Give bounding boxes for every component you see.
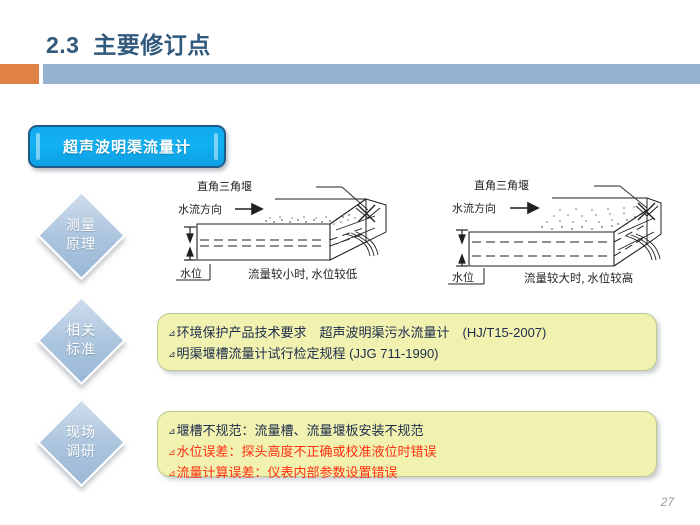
section-diamond-related-standards[interactable]: 相关 标准 — [29, 296, 133, 384]
section-diamond-field-survey[interactable]: 现场 调研 — [29, 398, 133, 486]
list-item-text: 环境保护产品技术要求 超声波明渠污水流量计 (HJ/T15-2007) — [177, 323, 547, 342]
level-label-text: 水位 — [452, 270, 474, 284]
weir-label-text: 直角三角堰 — [474, 178, 529, 192]
list-item: ⊿ 明渠堰槽流量计试行检定规程 (JJG 711-1990) — [168, 344, 644, 365]
list-item: ⊿ 流量计算误差：仪表内部参数设置错误 — [168, 463, 644, 484]
related-standards-box: ⊿ 环境保护产品技术要求 超声波明渠污水流量计 (HJ/T15-2007) ⊿ … — [157, 313, 657, 371]
flow-label-text: 水流方向 — [452, 201, 496, 215]
weir-diagrams: 直角三角堰 水流方向 水位 流量较小时, 水位较低 — [170, 172, 690, 290]
list-item-text: 水位误差：探头高度不正确或校准液位时错误 — [177, 442, 437, 461]
section-diamond-measurement-principle[interactable]: 测量 原理 — [29, 191, 133, 279]
field-survey-box: ⊿ 堰槽不规范：流量槽、流量堰板安装不规范 ⊿ 水位误差：探头高度不正确或校准液… — [157, 411, 657, 477]
triangle-bullet-icon: ⊿ — [168, 345, 176, 364]
list-item: ⊿ 堰槽不规范：流量槽、流量堰板安装不规范 — [168, 421, 644, 442]
diamond-shape — [36, 295, 125, 384]
triangle-bullet-icon: ⊿ — [168, 464, 176, 483]
title-accent-blue-bar — [43, 64, 700, 84]
figure-caption-text: 流量较小时, 水位较低 — [248, 267, 358, 281]
low-flow-weir-diagram: 直角三角堰 水流方向 水位 流量较小时, 水位较低 — [170, 172, 420, 290]
topic-header-pill[interactable]: 超声波明渠流量计 — [28, 125, 226, 168]
triangle-bullet-icon: ⊿ — [168, 443, 176, 462]
triangle-bullet-icon: ⊿ — [168, 422, 176, 441]
weir-label-text: 直角三角堰 — [197, 179, 252, 193]
list-item: ⊿ 水位误差：探头高度不正确或校准液位时错误 — [168, 442, 644, 463]
list-item-text: 堰槽不规范：流量槽、流量堰板安装不规范 — [177, 421, 424, 440]
list-item-text: 明渠堰槽流量计试行检定规程 (JJG 711-1990) — [177, 344, 439, 363]
page-title: 2.3 主要修订点 — [46, 26, 211, 60]
high-flow-weir-diagram: 直角三角堰 水流方向 水位 流量较大时, 水位较高 — [442, 172, 692, 290]
slide-canvas: 2.3 主要修订点 超声波明渠流量计 测量 原理 相关 标准 现场 调研 — [0, 0, 700, 525]
diamond-shape — [36, 397, 125, 486]
level-label-text: 水位 — [180, 266, 202, 280]
page-number: 27 — [661, 495, 674, 509]
title-accent-orange-block — [0, 64, 39, 84]
topic-header-label: 超声波明渠流量计 — [63, 136, 191, 157]
triangle-bullet-icon: ⊿ — [168, 324, 176, 343]
diamond-shape — [36, 190, 125, 279]
flow-label-text: 水流方向 — [178, 202, 222, 216]
figure-caption-text: 流量较大时, 水位较高 — [524, 271, 633, 285]
list-item-text: 流量计算误差：仪表内部参数设置错误 — [177, 463, 398, 482]
list-item: ⊿ 环境保护产品技术要求 超声波明渠污水流量计 (HJ/T15-2007) — [168, 323, 644, 344]
